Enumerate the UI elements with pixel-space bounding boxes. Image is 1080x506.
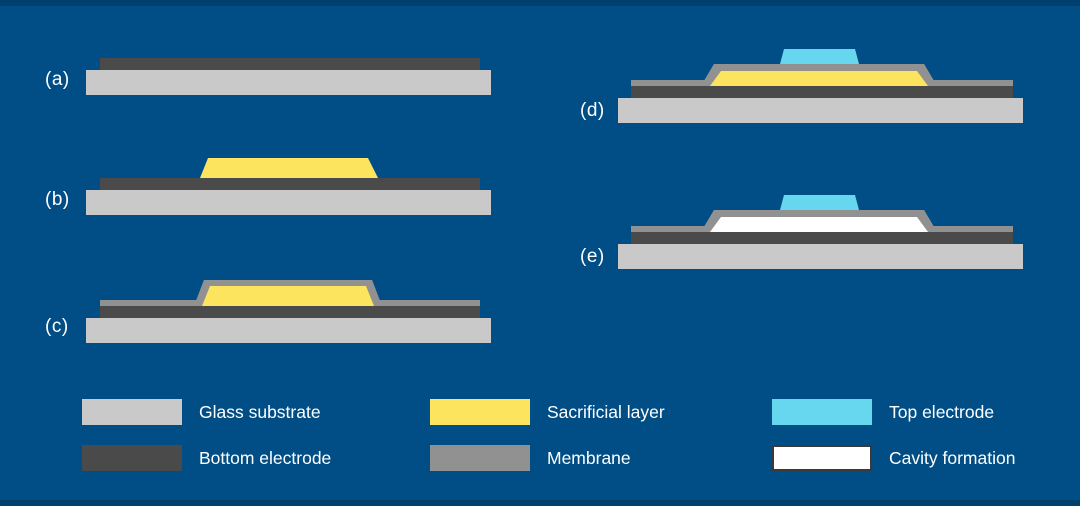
legend-swatch-bottom-electrode xyxy=(82,445,182,471)
layer-top-electrode xyxy=(780,49,859,64)
layer-glass-substrate xyxy=(86,70,491,95)
layer-sacrificial xyxy=(202,286,374,306)
layer-bottom-electrode xyxy=(631,232,1013,244)
layer-membrane-left-arm xyxy=(631,226,708,232)
layer-membrane-right-arm xyxy=(931,226,1013,232)
layer-bottom-electrode xyxy=(100,306,480,318)
layer-top-electrode xyxy=(780,195,859,210)
legend-label-glass-substrate: Glass substrate xyxy=(199,402,321,423)
legend-label-cavity-formation: Cavity formation xyxy=(889,448,1015,469)
layer-glass-substrate xyxy=(86,318,491,343)
layer-sacrificial xyxy=(710,71,928,86)
panel-label-e: (e) xyxy=(580,246,605,268)
layer-membrane-right-arm xyxy=(931,80,1013,86)
layer-glass-substrate xyxy=(86,190,491,215)
layer-sacrificial xyxy=(200,158,378,178)
figure-canvas: (a) (b) (c) xyxy=(0,0,1080,506)
legend-label-membrane: Membrane xyxy=(547,448,631,469)
panel-b-cross-section xyxy=(0,146,520,266)
panel-e-cross-section xyxy=(618,182,1078,302)
panel-d-cross-section xyxy=(618,36,1078,156)
panel-a-cross-section xyxy=(0,6,520,116)
legend-swatch-sacrificial-layer xyxy=(430,399,530,425)
layer-cavity-formation xyxy=(710,217,928,232)
legend-item-top-electrode: Top electrode xyxy=(772,399,994,425)
legend-swatch-top-electrode xyxy=(772,399,872,425)
layer-glass-substrate xyxy=(618,244,1023,269)
legend-swatch-membrane xyxy=(430,445,530,471)
legend-label-sacrificial-layer: Sacrificial layer xyxy=(547,402,665,423)
legend-item-membrane: Membrane xyxy=(430,445,631,471)
layer-bottom-electrode xyxy=(631,86,1013,98)
layer-membrane-right-arm xyxy=(378,300,480,306)
legend-swatch-cavity-formation xyxy=(772,445,872,471)
layer-membrane-left-arm xyxy=(631,80,708,86)
legend: Glass substrate Bottom electrode Sacrifi… xyxy=(0,384,1080,494)
layer-bottom-electrode xyxy=(100,58,480,70)
legend-label-top-electrode: Top electrode xyxy=(889,402,994,423)
legend-item-sacrificial-layer: Sacrificial layer xyxy=(430,399,665,425)
layer-glass-substrate xyxy=(618,98,1023,123)
legend-item-glass-substrate: Glass substrate xyxy=(82,399,321,425)
panel-label-d: (d) xyxy=(580,100,605,122)
layer-bottom-electrode xyxy=(100,178,480,190)
legend-swatch-glass-substrate xyxy=(82,399,182,425)
legend-item-cavity-formation: Cavity formation xyxy=(772,445,1015,471)
panel-c-cross-section xyxy=(0,268,520,388)
legend-item-bottom-electrode: Bottom electrode xyxy=(82,445,331,471)
layer-membrane-left-arm xyxy=(100,300,200,306)
legend-label-bottom-electrode: Bottom electrode xyxy=(199,448,331,469)
